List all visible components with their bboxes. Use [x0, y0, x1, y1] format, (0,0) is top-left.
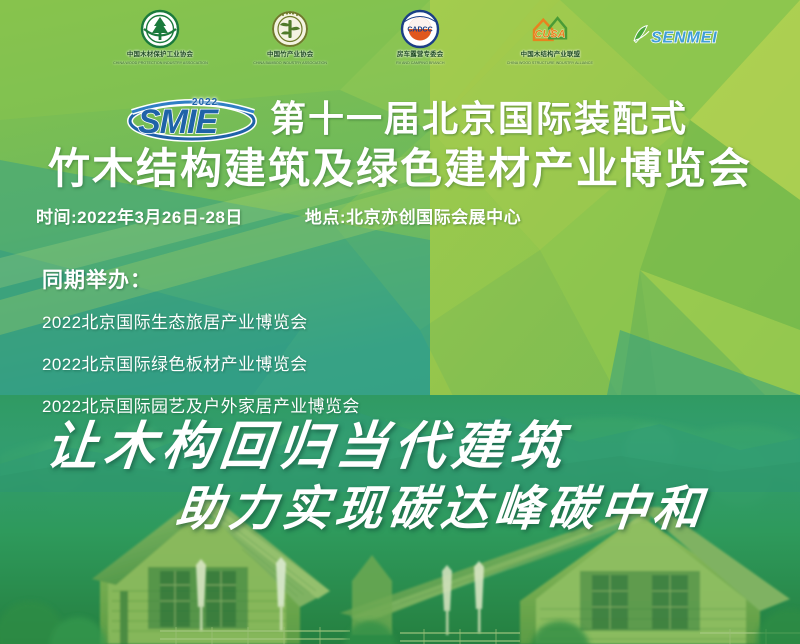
sponsor-caption: 房车露营专委会: [397, 51, 443, 58]
slogan-line-1: 让木构回归当代建筑: [43, 418, 571, 476]
cadcc-badge-icon: CADCC: [399, 8, 441, 50]
title-first-row: 2022 SMIE 第十一届北京国际装配式: [0, 96, 800, 142]
sponsor-subcaption: CHINA WOOD PROTECTION INDUSTRY ASSOCIATI…: [113, 60, 208, 65]
concurrent-events-heading: 同期举办：: [42, 264, 360, 294]
event-date: 时间:2022年3月26日-28日: [36, 203, 243, 228]
smie-wordmark: SMIE: [138, 104, 217, 140]
event-meta-line: 时间:2022年3月26日-28日 地点:北京亦创国际会展中心: [36, 203, 521, 228]
sponsor-caption: 中国竹产业协会: [267, 51, 313, 58]
bamboo-seal-icon: [269, 8, 311, 50]
tree-shield-icon: [139, 8, 181, 50]
svg-text:CADCC: CADCC: [407, 27, 432, 34]
sponsor-caption: 中国木结构产业联盟: [520, 51, 580, 58]
title-line-1: 第十一届北京国际装配式: [270, 97, 688, 141]
exhibition-poster: 中国木材保护工业协会 CHINA WOOD PROTECTION INDUSTR…: [0, 0, 800, 644]
sponsor-logo-bamboo-association[interactable]: 中国竹产业协会 CHINA BAMBOO INDUSTRY ASSOCIATIO…: [238, 8, 342, 65]
sponsor-subcaption: RV AND CAMPING BRANCH: [396, 60, 444, 65]
sponsor-logo-china-wood-protection[interactable]: 中国木材保护工业协会 CHINA WOOD PROTECTION INDUSTR…: [108, 8, 212, 65]
sponsor-logo-strip: 中国木材保护工业协会 CHINA WOOD PROTECTION INDUSTR…: [0, 8, 800, 74]
concurrent-events-block: 同期举办： 2022北京国际生态旅居产业博览会 2022北京国际绿色板材产业博览…: [42, 264, 360, 434]
sponsor-logo-senmei[interactable]: SENMEI: [628, 8, 732, 50]
concurrent-event-item: 2022北京国际园艺及户外家居产业博览会: [42, 392, 360, 417]
svg-text:SENMEI: SENMEI: [651, 30, 718, 47]
sponsor-subcaption: CHINA WOOD STRUCTURE INDUSTRY ALLIANCE: [507, 60, 593, 65]
concurrent-event-item: 2022北京国际绿色板材产业博览会: [42, 350, 360, 375]
sponsor-logo-cadcc[interactable]: CADCC 房车露营专委会 RV AND CAMPING BRANCH: [368, 8, 472, 65]
cusa-house-icon: CUSA: [529, 8, 571, 50]
slogan-line-2: 助力实现碳达峰碳中和: [173, 482, 709, 536]
concurrent-event-item: 2022北京国际生态旅居产业博览会: [42, 308, 360, 333]
sponsor-subcaption: CHINA BAMBOO INDUSTRY ASSOCIATION: [253, 60, 327, 65]
sponsor-logo-cusa[interactable]: CUSA 中国木结构产业联盟 CHINA WOOD STRUCTURE INDU…: [498, 8, 602, 65]
poster-title-block: 2022 SMIE 第十一届北京国际装配式 竹木结构建筑及绿色建材产业博览会: [0, 96, 800, 194]
event-venue: 地点:北京亦创国际会展中心: [305, 203, 521, 228]
leaf-sprout-icon: SENMEI: [628, 20, 732, 50]
sponsor-caption: 中国木材保护工业协会: [127, 51, 193, 58]
smie-logo: 2022 SMIE: [122, 96, 262, 142]
svg-text:CUSA: CUSA: [535, 28, 566, 40]
title-line-2: 竹木结构建筑及绿色建材产业博览会: [0, 144, 800, 194]
